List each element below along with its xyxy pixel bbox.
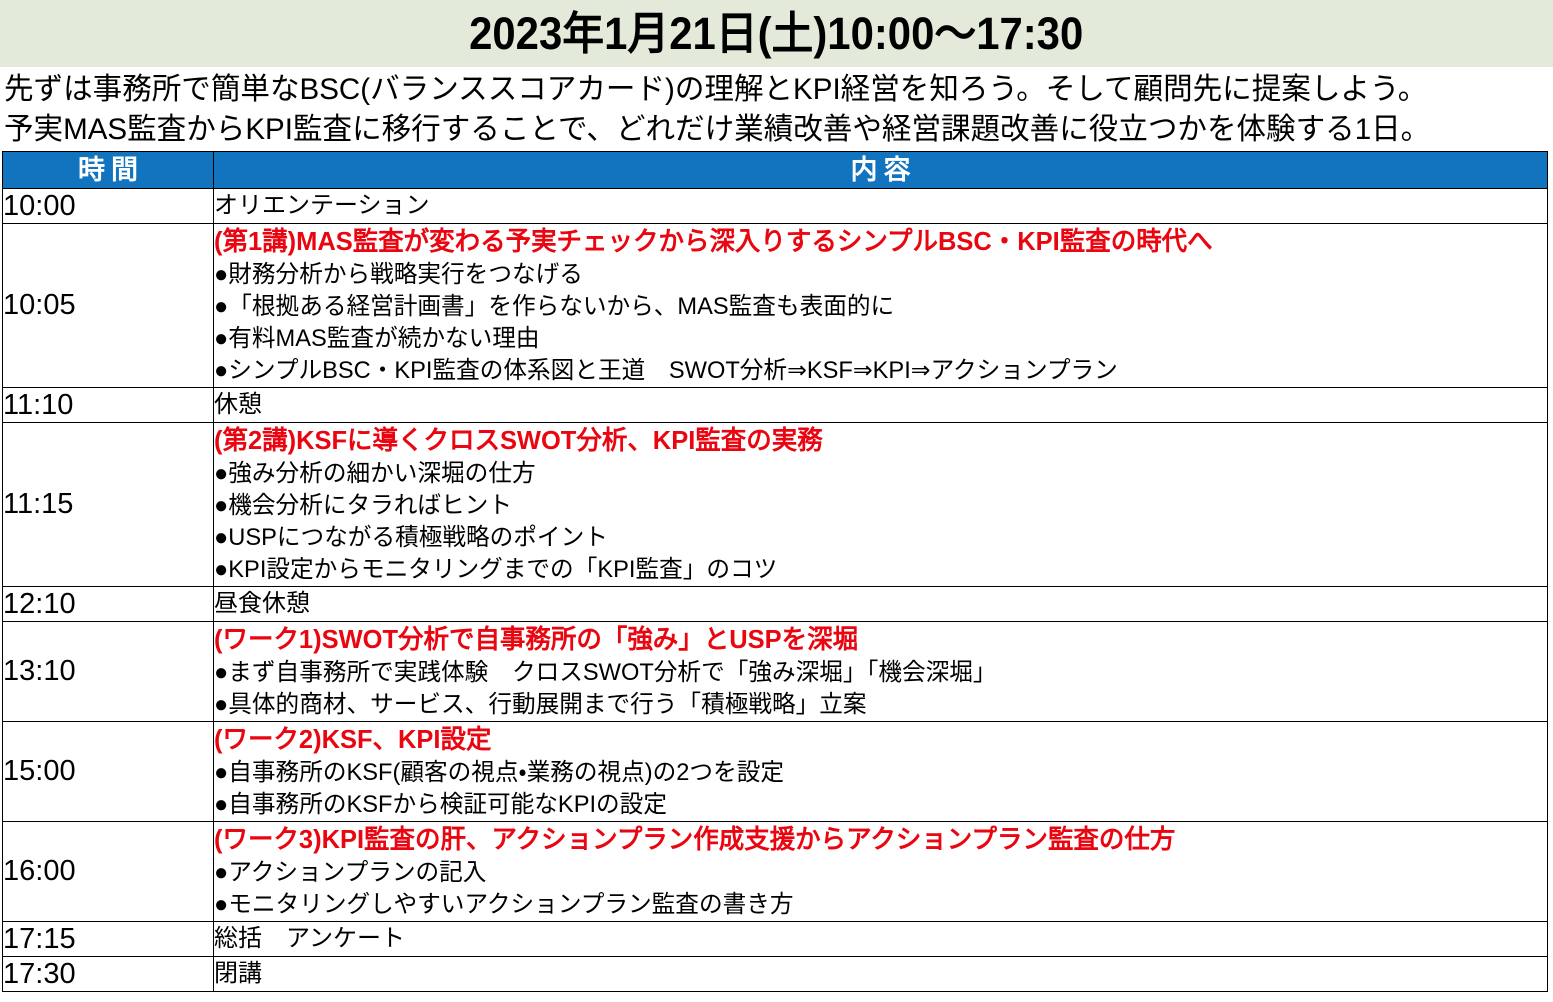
row-time: 11:10 bbox=[3, 388, 214, 423]
session-bullet: ●自事務所のKSFから検証可能なKPIの設定 bbox=[214, 789, 1527, 821]
schedule-table: 時間 内容 10:00オリエンテーション10:05(第1講)MAS監査が変わる予… bbox=[2, 151, 1548, 992]
session-bullet: ●アクションプランの記入 bbox=[214, 857, 1527, 889]
session-heading: (ワーク1)SWOT分析で自事務所の「強み」とUSPを深堀 bbox=[214, 622, 1520, 656]
row-time: 10:05 bbox=[3, 224, 214, 388]
lead-line-2: 予実MAS監査からKPI監査に移行することで、どれだけ業績改善や経営課題改善に役… bbox=[4, 110, 1526, 150]
session-text: 閉講 bbox=[214, 957, 1547, 991]
row-time: 13:10 bbox=[3, 622, 214, 722]
row-content: (第1講)MAS監査が変わる予実チェックから深入りするシンプルBSC・KPI監査… bbox=[214, 224, 1548, 388]
row-content: 閉講 bbox=[214, 957, 1548, 992]
schedule-table-head: 時間 内容 bbox=[3, 152, 1548, 189]
table-row: 15:00(ワーク2)KSF、KPI設定●自事務所のKSF(顧客の視点・業務の視… bbox=[3, 722, 1548, 822]
session-bullet: ●有料MAS監査が続かない理由 bbox=[214, 323, 1527, 355]
session-text: 休憩 bbox=[214, 388, 1547, 422]
table-row: 17:30閉講 bbox=[3, 957, 1548, 992]
row-content: (第2講)KSFに導くクロスSWOT分析、KPI監査の実務●強み分析の細かい深堀… bbox=[214, 423, 1548, 587]
session-text: 昼食休憩 bbox=[214, 587, 1547, 621]
row-time: 15:00 bbox=[3, 722, 214, 822]
row-content: 総括 アンケート bbox=[214, 922, 1548, 957]
session-bullet: ●機会分析にタラればヒント bbox=[214, 490, 1527, 522]
row-content: 休憩 bbox=[214, 388, 1548, 423]
session-heading: (ワーク3)KPI監査の肝、アクションプラン作成支援からアクションプラン監査の仕… bbox=[214, 822, 1520, 856]
session-bullet: ●具体的商材、サービス、行動展開まで行う「積極戦略」立案 bbox=[214, 689, 1527, 721]
row-content: 昼食休憩 bbox=[214, 587, 1548, 622]
schedule-table-wrapper: 時間 内容 10:00オリエンテーション10:05(第1講)MAS監査が変わる予… bbox=[2, 151, 1547, 992]
row-time: 10:00 bbox=[3, 189, 214, 224]
schedule-table-body: 10:00オリエンテーション10:05(第1講)MAS監査が変わる予実チェックか… bbox=[3, 189, 1548, 992]
row-time: 12:10 bbox=[3, 587, 214, 622]
title-band: 2023年1月21日(土)10:00〜17:30 bbox=[0, 0, 1553, 67]
column-header-content: 内容 bbox=[214, 152, 1548, 189]
row-content: オリエンテーション bbox=[214, 189, 1548, 224]
session-bullet: ●シンプルBSC・KPI監査の体系図と王道 SWOT分析⇒KSF⇒KPI⇒アクシ… bbox=[214, 355, 1527, 387]
row-content: (ワーク1)SWOT分析で自事務所の「強み」とUSPを深堀●まず自事務所で実践体… bbox=[214, 622, 1548, 722]
row-content: (ワーク2)KSF、KPI設定●自事務所のKSF(顧客の視点・業務の視点)の2つ… bbox=[214, 722, 1548, 822]
table-row: 11:15(第2講)KSFに導くクロスSWOT分析、KPI監査の実務●強み分析の… bbox=[3, 423, 1548, 587]
session-bullet: ●強み分析の細かい深堀の仕方 bbox=[214, 458, 1527, 490]
session-heading: (第1講)MAS監査が変わる予実チェックから深入りするシンプルBSC・KPI監査… bbox=[214, 224, 1520, 258]
table-row: 10:00オリエンテーション bbox=[3, 189, 1548, 224]
seminar-schedule-page: 2023年1月21日(土)10:00〜17:30 先ずは事務所で簡単なBSC(バ… bbox=[0, 0, 1553, 1002]
session-text: オリエンテーション bbox=[214, 189, 1547, 223]
header-row: 時間 内容 bbox=[3, 152, 1548, 189]
session-heading: (ワーク2)KSF、KPI設定 bbox=[214, 722, 1520, 756]
session-bullet: ●まず自事務所で実践体験 クロスSWOT分析で「強み深堀」「機会深堀」 bbox=[214, 657, 1527, 689]
row-time: 16:00 bbox=[3, 822, 214, 922]
session-bullet: ●モニタリングしやすいアクションプラン監査の書き方 bbox=[214, 889, 1527, 921]
table-row: 11:10休憩 bbox=[3, 388, 1548, 423]
page-title: 2023年1月21日(土)10:00〜17:30 bbox=[469, 11, 1083, 56]
row-time: 11:15 bbox=[3, 423, 214, 587]
session-text: 総括 アンケート bbox=[214, 922, 1547, 956]
session-heading: (第2講)KSFに導くクロスSWOT分析、KPI監査の実務 bbox=[214, 423, 1520, 457]
lead-line-1: 先ずは事務所で簡単なBSC(バランススコアカード)の理解とKPI経営を知ろう。そ… bbox=[4, 70, 1526, 110]
session-bullet: ●「根拠ある経営計画書」を作らないから、MAS監査も表面的に bbox=[214, 291, 1527, 323]
session-bullet: ●USPにつながる積極戦略のポイント bbox=[214, 522, 1527, 554]
row-time: 17:15 bbox=[3, 922, 214, 957]
table-row: 12:10昼食休憩 bbox=[3, 587, 1548, 622]
table-row: 17:15総括 アンケート bbox=[3, 922, 1548, 957]
session-bullet: ●KPI設定からモニタリングまでの「KPI監査」のコツ bbox=[214, 554, 1527, 586]
table-row: 16:00(ワーク3)KPI監査の肝、アクションプラン作成支援からアクションプラ… bbox=[3, 822, 1548, 922]
row-content: (ワーク3)KPI監査の肝、アクションプラン作成支援からアクションプラン監査の仕… bbox=[214, 822, 1548, 922]
table-row: 10:05(第1講)MAS監査が変わる予実チェックから深入りするシンプルBSC・… bbox=[3, 224, 1548, 388]
column-header-time: 時間 bbox=[3, 152, 214, 189]
session-bullet: ●財務分析から戦略実行をつなげる bbox=[214, 259, 1527, 291]
table-row: 13:10(ワーク1)SWOT分析で自事務所の「強み」とUSPを深堀●まず自事務… bbox=[3, 622, 1548, 722]
row-time: 17:30 bbox=[3, 957, 214, 992]
lead-paragraph: 先ずは事務所で簡単なBSC(バランススコアカード)の理解とKPI経営を知ろう。そ… bbox=[0, 67, 1553, 150]
session-bullet: ●自事務所のKSF(顧客の視点・業務の視点)の2つを設定 bbox=[214, 757, 1527, 789]
